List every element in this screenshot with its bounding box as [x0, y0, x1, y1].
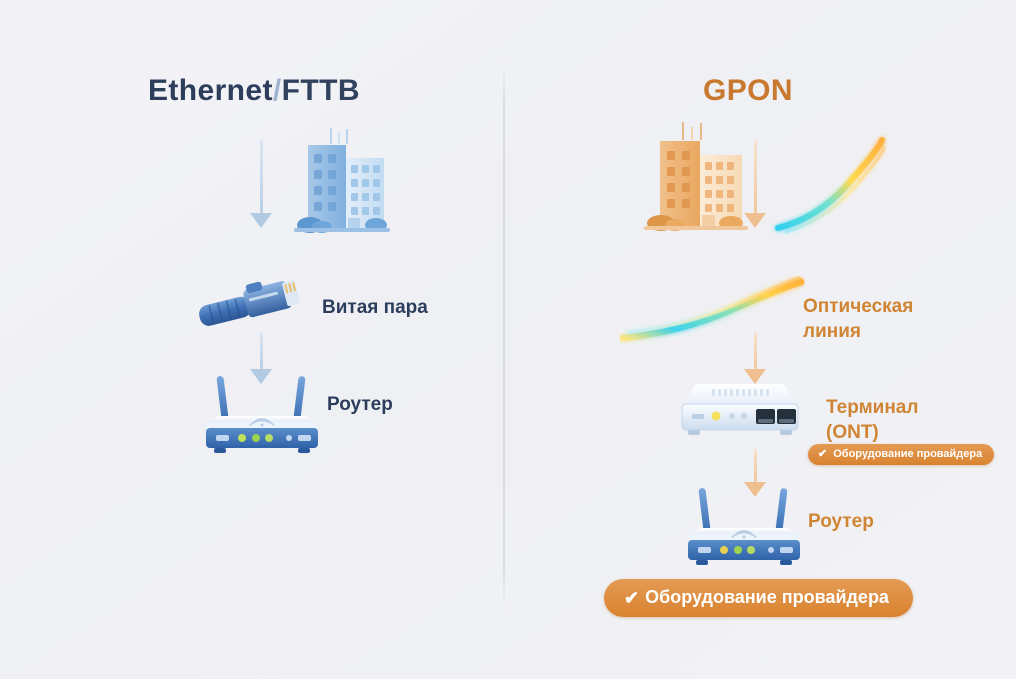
arrow-down-icon [743, 140, 767, 228]
fiber-optic-icon [772, 132, 890, 240]
check-icon: ✔ [818, 449, 827, 460]
status-badge: ✔ Оборудование провайдера [808, 444, 994, 465]
ont-terminal-icon [672, 376, 806, 442]
check-icon: ✔ [624, 589, 639, 607]
router-icon [670, 484, 818, 572]
optical-line-label: Оптическая линия [803, 294, 913, 344]
title-ethernet: Ethernet [148, 74, 273, 107]
status-badge-label: Оборудование провайдера [833, 448, 982, 460]
ethernet-cable-icon [192, 278, 312, 330]
router-label-right: Роутер [808, 509, 874, 534]
router-label-left: Роутер [327, 392, 393, 417]
terminal-label: Терминал (ONT) [826, 395, 918, 445]
column-divider [503, 62, 505, 610]
left-column-title: Ethernet/FTTB [148, 74, 360, 108]
building-icon [276, 128, 394, 240]
status-badge-label: Оборудование провайдера [645, 587, 889, 608]
fiber-optic-icon [619, 276, 805, 348]
infographic-canvas: Ethernet/FTTB GPON [0, 0, 1016, 679]
title-fttb: FTTB [282, 74, 360, 107]
right-column-title: GPON [703, 74, 793, 108]
twisted-pair-label: Витая пара [322, 295, 428, 320]
status-badge: ✔ Оборудование провайдера [604, 579, 913, 617]
title-separator: / [273, 74, 282, 107]
router-icon [188, 372, 336, 460]
arrow-down-icon [249, 140, 273, 228]
building-icon [634, 122, 756, 240]
